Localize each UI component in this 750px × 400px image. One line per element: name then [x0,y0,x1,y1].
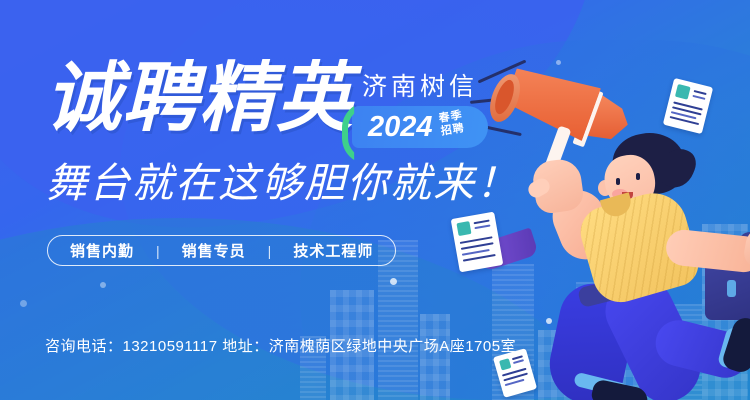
page-subtitle: 舞台就在这够胆你就来！ [46,157,519,209]
job-role-2[interactable]: 销售专员 [182,240,246,261]
job-role-3[interactable]: 技术工程师 [293,240,373,261]
season-badge: 2024 春季 招聘 [352,106,488,148]
badge-year: 2024 [368,111,433,143]
contact-info: 咨询电话：13210591117 地址：济南槐荫区绿地中央广场A座1705室 [45,337,516,357]
page-title: 诚聘精英 [45,57,353,141]
job-role-1[interactable]: 销售内勤 [70,240,134,261]
company-name: 济南树信 [362,73,478,101]
role-separator: | [156,243,160,259]
badge-subtitle: 春季 招聘 [438,106,486,139]
job-roles-pill: 销售内勤 | 销售专员 | 技术工程师 [47,235,396,266]
character-eye [636,173,640,180]
recruitment-banner: 诚聘精英 济南树信 2024 春季 招聘 舞台就在这够胆你就来！ 销售内勤 | … [0,0,750,400]
character-eye [616,178,620,185]
resume-paper-icon [451,212,504,273]
role-separator: | [268,243,272,259]
